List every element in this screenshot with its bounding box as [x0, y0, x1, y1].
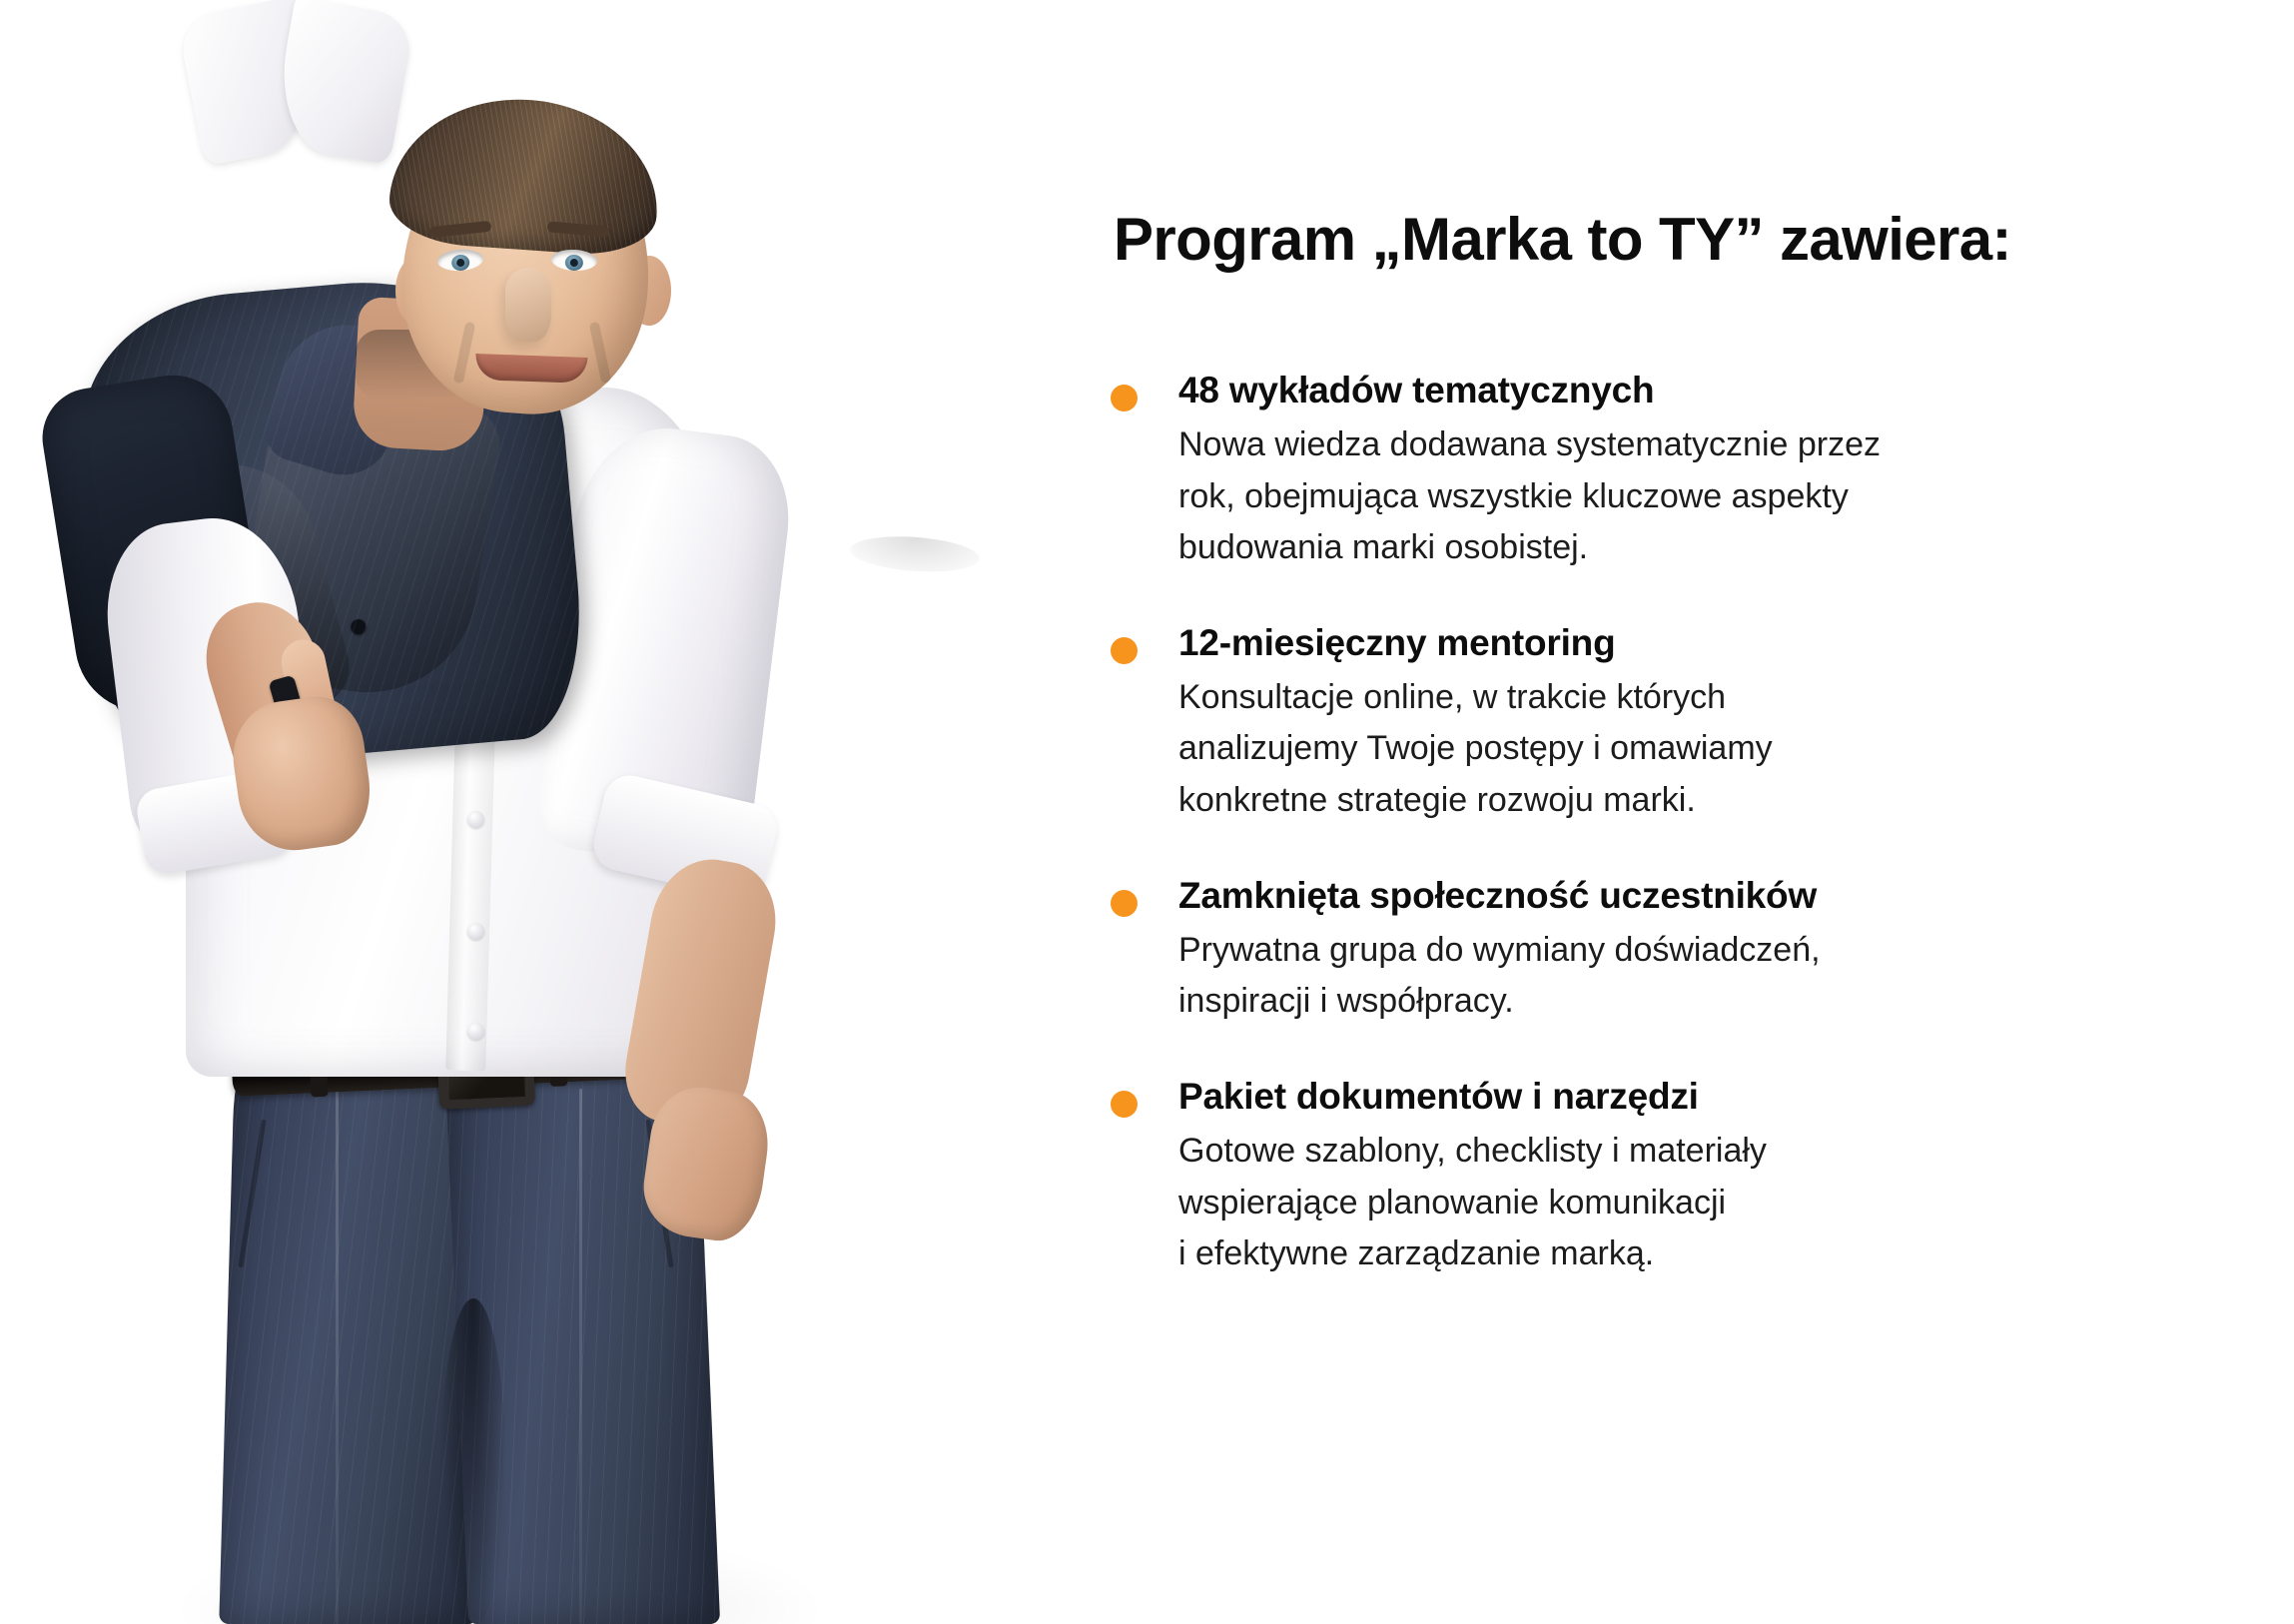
iris-right: [564, 255, 583, 272]
hair: [386, 91, 664, 259]
shirt-collar-right: [270, 0, 415, 165]
content-pane: Program „Marka to TY” zawiera: 48 wykład…: [1089, 0, 2294, 1624]
feature-description-line: wspierające planowanie komunikacji: [1178, 1178, 2137, 1229]
trouser-crease-left: [336, 1089, 339, 1624]
shirt-button: [467, 811, 484, 828]
feature-description-line: Prywatna grupa do wymiany doświadczeń,: [1178, 925, 2137, 977]
shirt-button: [467, 923, 484, 940]
feature-list: 48 wykładów tematycznych Nowa wiedza dod…: [1089, 368, 2187, 1280]
blazer-button: [351, 618, 367, 634]
person-photo: [0, 0, 1089, 1624]
feature-description: Prywatna grupa do wymiany doświadczeń, i…: [1178, 925, 2137, 1028]
nose: [505, 268, 551, 342]
feature-description-line: budowania marki osobistej.: [1178, 522, 2137, 574]
orange-dot-icon: [1111, 637, 1138, 664]
trouser-crotch-shadow: [441, 1298, 505, 1624]
feature-title: 12-miesięczny mentoring: [1178, 620, 2187, 666]
orange-dot-icon: [1111, 1091, 1138, 1118]
shirt-button: [467, 1023, 484, 1040]
chin-shadow: [849, 532, 981, 575]
feature-description: Konsultacje online, w trakcie których an…: [1178, 672, 2137, 827]
feature-title: Pakiet dokumentów i narzędzi: [1178, 1074, 2187, 1120]
pupil-right: [570, 259, 578, 267]
photo-pane: [0, 0, 1089, 1624]
feature-description-line: analizujemy Twoje postępy i omawiamy: [1178, 723, 2137, 775]
trouser-crease-right: [579, 1089, 582, 1624]
feature-item-wyklady: 48 wykładów tematycznych Nowa wiedza dod…: [1089, 368, 2187, 574]
feature-description-line: Nowa wiedza dodawana systematycznie prze…: [1178, 419, 2137, 471]
feature-description: Nowa wiedza dodawana systematycznie prze…: [1178, 419, 2137, 574]
pupil-left: [456, 259, 465, 268]
feature-title: Zamknięta społeczność uczestników: [1178, 873, 2187, 919]
page-title: Program „Marka to TY” zawiera:: [1114, 208, 2011, 272]
feature-title: 48 wykładów tematycznych: [1178, 368, 2187, 413]
slide-root: Program „Marka to TY” zawiera: 48 wykład…: [0, 0, 2294, 1624]
orange-dot-icon: [1111, 890, 1138, 917]
orange-dot-icon: [1111, 385, 1138, 411]
feature-item-mentoring: 12-miesięczny mentoring Konsultacje onli…: [1089, 620, 2187, 827]
feature-description-line: rok, obejmująca wszystkie kluczowe aspek…: [1178, 471, 2137, 523]
feature-description-line: i efektywne zarządzanie marką.: [1178, 1228, 2137, 1280]
feature-item-dokumenty: Pakiet dokumentów i narzędzi Gotowe szab…: [1089, 1074, 2187, 1280]
feature-description-line: konkretne strategie rozwoju marki.: [1178, 775, 2137, 827]
feature-description: Gotowe szablony, checklisty i materiały …: [1178, 1126, 2137, 1280]
feature-description-line: Konsultacje online, w trakcie których: [1178, 672, 2137, 724]
feature-description-line: inspiracji i współpracy.: [1178, 976, 2137, 1028]
iris-left: [451, 254, 470, 271]
feature-item-spolecznosc: Zamknięta społeczność uczestników Prywat…: [1089, 873, 2187, 1028]
feature-description-line: Gotowe szablony, checklisty i materiały: [1178, 1126, 2137, 1178]
